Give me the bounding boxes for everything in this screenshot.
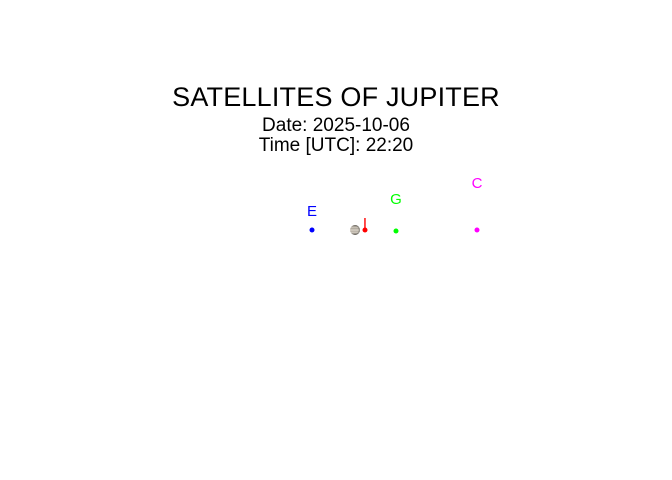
moon-dot-callisto (475, 228, 480, 233)
moon-label-callisto: C (472, 176, 483, 191)
satellites-of-jupiter-view: SATELLITES OF JUPITER Date: 2025-10-06 T… (0, 0, 672, 480)
moon-dot-ganymede (394, 229, 399, 234)
moon-dot-io (363, 228, 368, 233)
moon-dot-europa (310, 228, 315, 233)
moon-label-ganymede: G (390, 192, 402, 207)
jupiter-disk (350, 225, 360, 235)
moon-label-europa: E (307, 204, 317, 219)
sky-plot-area: EIGC (0, 0, 672, 480)
